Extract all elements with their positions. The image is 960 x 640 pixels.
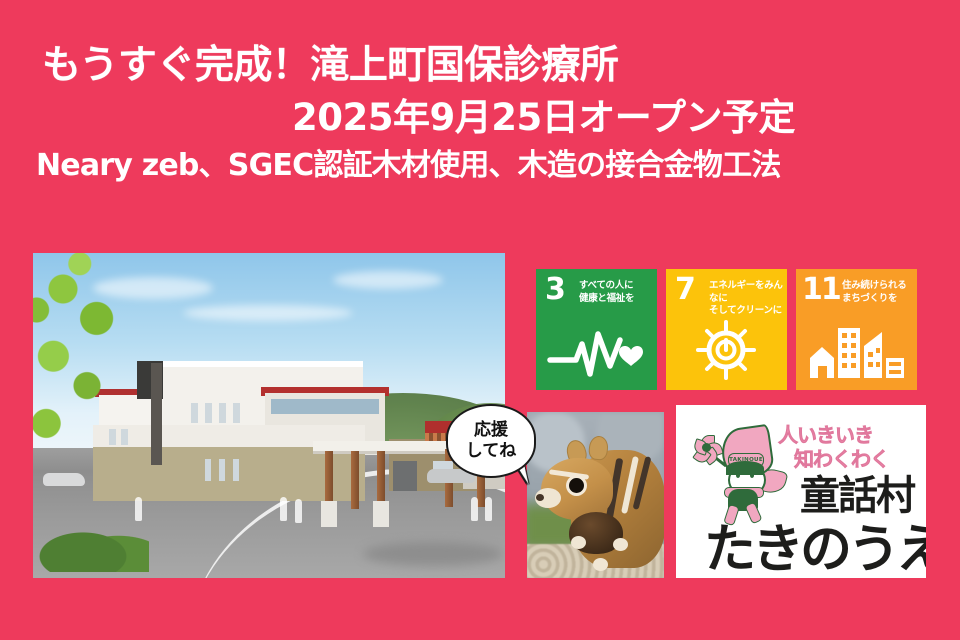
foreground-bush: [39, 520, 149, 572]
window: [205, 459, 211, 481]
chipmunk-nose: [536, 494, 544, 501]
speech-bubble-line1: 応援: [474, 420, 508, 441]
window: [205, 403, 212, 423]
chipmunk-eye: [569, 478, 584, 493]
window: [233, 403, 240, 423]
heartbeat-icon: [536, 316, 657, 384]
chipmunk-paw: [571, 536, 586, 549]
building-window-band: [271, 399, 379, 414]
sdg-label: すべての人に 健康と福祉を: [579, 280, 634, 305]
flower-core: [702, 443, 711, 452]
town-logo-panel: TAKINOUE 人いきいき 知わくわく 童話村 たきのうえ: [676, 405, 926, 578]
page-title: もうすぐ完成！滝上町国保診療所: [0, 46, 960, 87]
sdg-goal-3: 3 すべての人に 健康と福祉を: [536, 269, 657, 390]
town-logo-inner: TAKINOUE 人いきいき 知わくわく 童話村 たきのうえ: [682, 411, 920, 572]
fairy-hair: [726, 461, 764, 475]
figure: [295, 499, 302, 523]
figure: [280, 497, 287, 521]
sdg-number: 3: [545, 275, 566, 305]
column-base: [321, 501, 337, 527]
speech-bubble: 応援 してね: [446, 404, 536, 478]
logo-main-line-2: たきのうえ: [704, 507, 926, 578]
clinic-rendering: [33, 253, 505, 578]
column-base: [373, 501, 389, 527]
headline-block: もうすぐ完成！滝上町国保診療所 2025年9月25日オープン予定 Neary z…: [0, 46, 960, 181]
chipmunk-paw: [613, 538, 628, 551]
parked-car: [43, 473, 85, 486]
poster-root: もうすぐ完成！滝上町国保診療所 2025年9月25日オープン予定 Neary z…: [0, 0, 960, 640]
canopy-column: [351, 451, 359, 509]
sdg-icon-row: 3 すべての人に 健康と福祉を 7 エネルギーをみんなに そしてクリーンに: [536, 269, 917, 390]
opening-date-text: 2025年9月25日オープン予定: [0, 99, 960, 138]
fairy-eye: [750, 473, 754, 478]
sdg-label: エネルギーをみんなに そしてクリーンに: [709, 280, 787, 318]
fairy-eye: [736, 473, 740, 478]
cityscape-icon: [796, 316, 917, 384]
construction-spec-text: Neary zeb、SGEC認証木材使用、木造の接合金物工法: [0, 150, 960, 182]
chipmunk-paw: [593, 558, 608, 571]
sdg-goal-7: 7 エネルギーをみんなに そしてクリーンに: [666, 269, 787, 390]
sun-power-icon: [666, 316, 787, 384]
cherry-blossom-icon: [694, 435, 720, 461]
window: [219, 459, 225, 481]
window: [191, 403, 198, 423]
window: [233, 459, 239, 481]
chipmunk-photo: [527, 412, 664, 578]
sdg-label: 住み続けられる まちづくりを: [842, 280, 906, 305]
takinoue-fairy-character: TAKINOUE: [694, 425, 790, 515]
cloud: [183, 305, 353, 321]
window: [219, 403, 226, 423]
figure: [485, 497, 492, 521]
speech-bubble-line2: してね: [466, 441, 517, 462]
cloud: [333, 271, 443, 289]
ground-shadow: [363, 542, 503, 566]
figure: [471, 497, 478, 521]
sdg-goal-11: 11 住み続けられる まちづくりを: [796, 269, 917, 390]
foreground-tree: [33, 253, 147, 457]
sdg-number: 7: [675, 275, 696, 305]
figure: [135, 497, 142, 521]
sdg-number: 11: [802, 275, 840, 305]
building-chimney: [151, 363, 162, 465]
entrance-door: [393, 461, 417, 491]
